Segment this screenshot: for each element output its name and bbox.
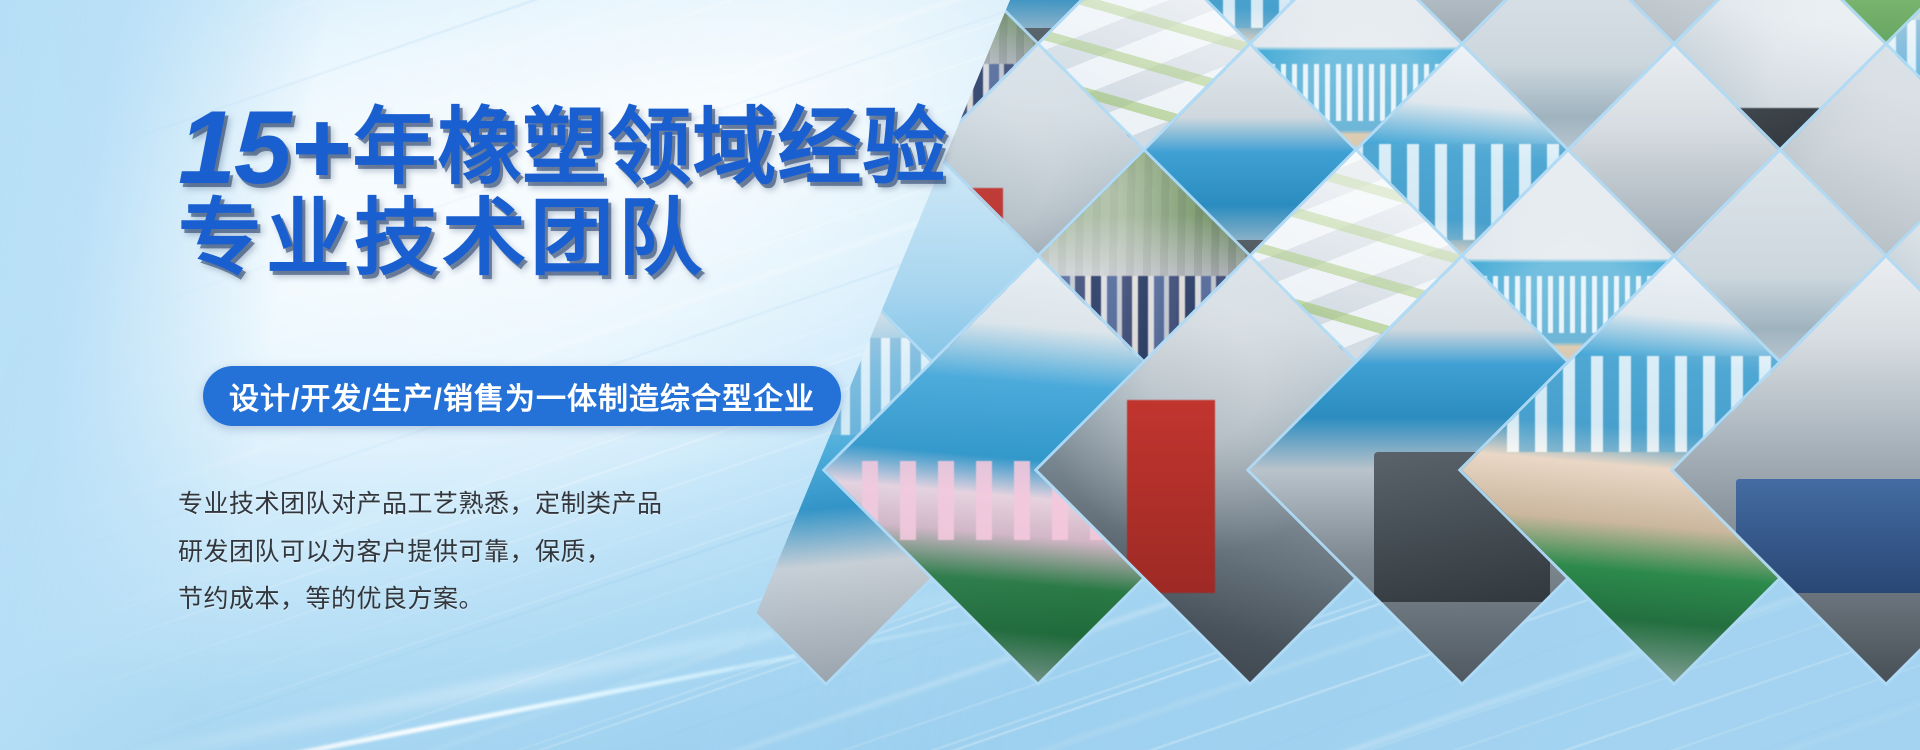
description-line: 专业技术团队对产品工艺熟悉，定制类产品: [178, 487, 663, 522]
promo-banner: 15+年橡塑领域经验 专业技术团队 设计/开发/生产/销售为一体制造综合型企业 …: [0, 0, 1920, 750]
description-line: 节约成本，等的优良方案。: [178, 582, 663, 617]
tagline-badge-label: 设计/开发/生产/销售为一体制造综合型企业: [229, 374, 815, 418]
tagline-badge: 设计/开发/生产/销售为一体制造综合型企业: [203, 366, 841, 426]
description-line: 研发团队可以为客户提供可靠，保质，: [178, 535, 663, 570]
years-number: 15+: [178, 90, 352, 206]
headline-line-1-text: 年橡塑领域经验: [352, 100, 947, 194]
headline-line-2: 专业技术团队: [178, 196, 706, 280]
headline-line-1: 15+年橡塑领域经验: [178, 96, 947, 200]
banner-content: 15+年橡塑领域经验 专业技术团队 设计/开发/生产/销售为一体制造综合型企业 …: [0, 0, 1000, 750]
description-paragraph: 专业技术团队对产品工艺熟悉，定制类产品 研发团队可以为客户提供可靠，保质， 节约…: [178, 487, 663, 630]
